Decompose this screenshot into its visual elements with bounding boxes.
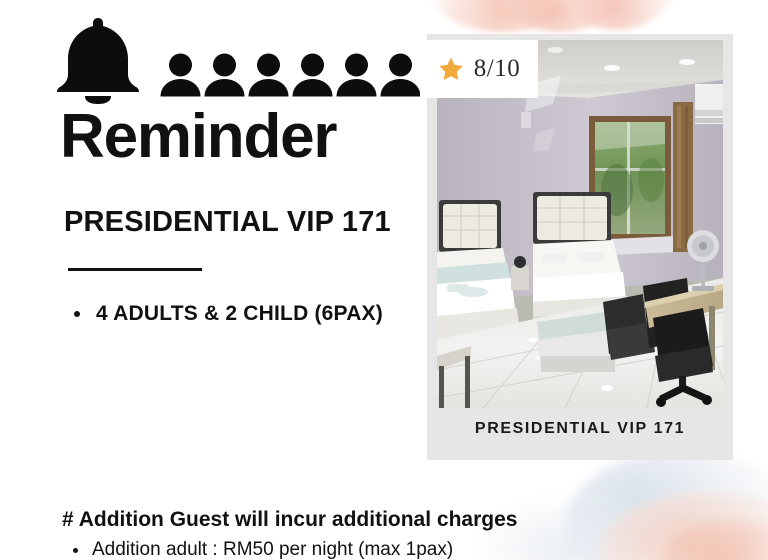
watercolor-top-middle-icon [496, 0, 626, 32]
person-icon [380, 53, 421, 97]
watercolor-top-left-icon [428, 0, 578, 32]
occupancy-list: 4 ADULTS & 2 CHILD (6PAX) [62, 300, 402, 328]
room-photo-caption: PRESIDENTIAL VIP 171 [427, 420, 733, 438]
list-item: 4 ADULTS & 2 CHILD (6PAX) [62, 300, 402, 328]
watercolor-top-right-icon [556, 0, 676, 30]
rating-badge: 8/10 [420, 40, 538, 98]
rating-score: 8/10 [474, 55, 520, 83]
divider [68, 268, 202, 271]
person-icon [160, 53, 201, 97]
page-title: Reminder [60, 106, 336, 168]
additional-charges-list: Addition adult : RM50 per night (max 1pa… [62, 538, 532, 560]
watercolor-bottom-right-pink-icon [600, 492, 768, 560]
person-icon [292, 53, 333, 97]
star-icon [438, 56, 464, 82]
person-icon [204, 53, 245, 97]
people-icon-group [160, 53, 421, 97]
watercolor-bottom-right-blue-icon [566, 452, 768, 560]
bell-icon [52, 16, 144, 104]
watercolor-top-accent-icon [468, 0, 558, 18]
reminder-poster: Reminder PRESIDENTIAL VIP 171 4 ADULTS &… [0, 0, 768, 560]
watercolor-bottom-right-pink-accent-icon [660, 520, 768, 560]
person-icon [248, 53, 289, 97]
room-name-heading: PRESIDENTIAL VIP 171 [64, 208, 391, 237]
list-item: Addition adult : RM50 per night (max 1pa… [62, 538, 532, 560]
additional-charges-heading: # Addition Guest will incur additional c… [62, 508, 517, 532]
header-icon-row [52, 16, 421, 104]
person-icon [336, 53, 377, 97]
